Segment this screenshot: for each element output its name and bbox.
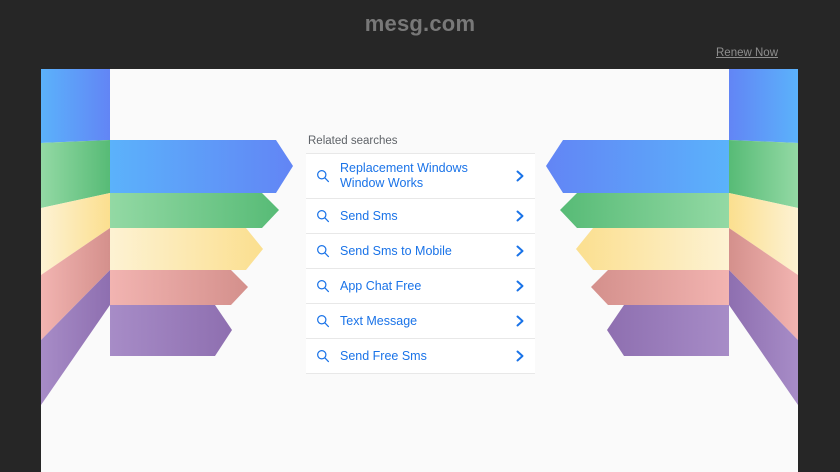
page-title: mesg.com: [0, 11, 840, 37]
list-item[interactable]: Send Sms to Mobile: [306, 234, 535, 269]
chevron-right-icon[interactable]: [514, 169, 526, 183]
search-icon: [316, 169, 330, 183]
related-searches-heading: Related searches: [306, 135, 535, 147]
chevron-right-icon[interactable]: [514, 314, 526, 328]
list-item-label: Text Message: [340, 314, 504, 329]
related-searches-section: Related searches Replacement Windows Win…: [306, 135, 535, 374]
list-item[interactable]: Text Message: [306, 304, 535, 339]
list-item-label: Replacement Windows Window Works: [340, 161, 504, 191]
search-icon: [316, 209, 330, 223]
chevron-right-icon[interactable]: [514, 279, 526, 293]
list-item[interactable]: App Chat Free: [306, 269, 535, 304]
list-item[interactable]: Send Sms: [306, 199, 535, 234]
list-item[interactable]: Send Free Sms: [306, 339, 535, 374]
chevron-right-icon[interactable]: [514, 209, 526, 223]
list-item-label: Send Sms to Mobile: [340, 244, 504, 259]
related-searches-list: Replacement Windows Window Works Send Sm…: [306, 153, 535, 374]
list-item-label: Send Free Sms: [340, 349, 504, 364]
chevron-right-icon[interactable]: [514, 349, 526, 363]
list-item[interactable]: Replacement Windows Window Works: [306, 154, 535, 199]
header-bar: mesg.com Renew Now: [0, 0, 840, 69]
list-item-label: App Chat Free: [340, 279, 504, 294]
search-icon: [316, 244, 330, 258]
search-icon: [316, 279, 330, 293]
list-item-label: Send Sms: [340, 209, 504, 224]
search-icon: [316, 314, 330, 328]
content-panel: Related searches Replacement Windows Win…: [41, 69, 798, 472]
search-icon: [316, 349, 330, 363]
chevron-right-icon[interactable]: [514, 244, 526, 258]
renew-now-link[interactable]: Renew Now: [716, 47, 778, 59]
